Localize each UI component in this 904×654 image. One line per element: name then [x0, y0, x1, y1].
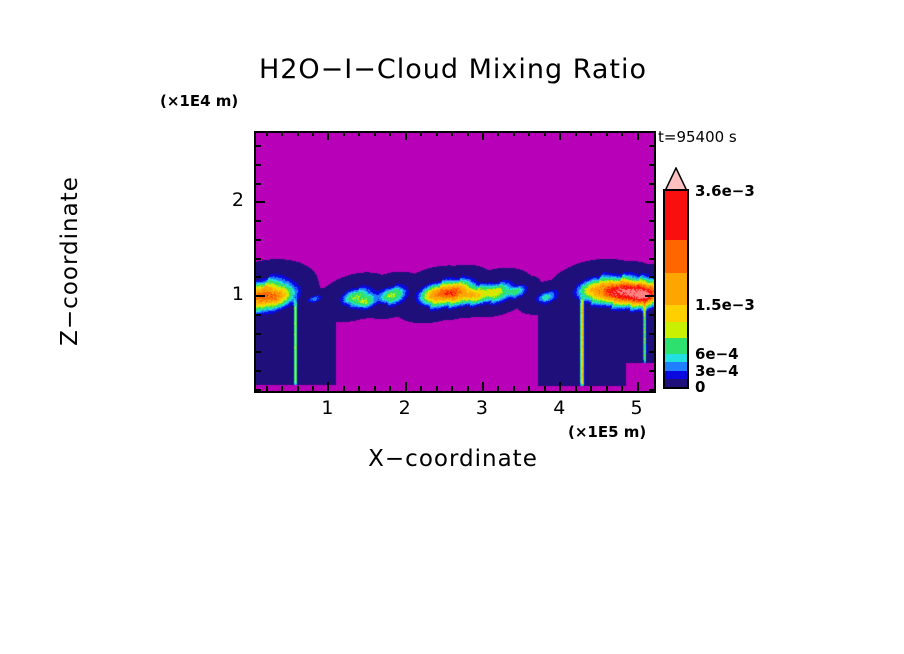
y-minor-tick [256, 276, 261, 278]
x-axis-unit-label: (×1E5 m) [568, 423, 646, 441]
colorbar-tick-label: 3e−4 [695, 362, 739, 380]
x-minor-tick-top [637, 131, 639, 140]
x-tick-label: 4 [539, 397, 579, 419]
y-tick-label: 2 [204, 189, 244, 211]
colorbar-arrow-cap [663, 167, 689, 191]
plot-area [254, 131, 656, 393]
x-minor-tick-top [420, 131, 422, 136]
colorbar-tick-label: 3.6e−3 [695, 182, 755, 200]
x-minor-tick [358, 386, 360, 391]
x-minor-tick-top [312, 131, 314, 136]
x-minor-tick [374, 386, 376, 391]
colorbar-tick-label: 6e−4 [695, 345, 739, 363]
colorbar-band [665, 191, 687, 240]
x-tick-label: 2 [385, 397, 425, 419]
x-minor-tick [343, 386, 345, 391]
colorbar-band [665, 354, 687, 362]
x-minor-tick [513, 386, 515, 391]
y-minor-tick-right [649, 389, 654, 391]
x-minor-tick [405, 382, 407, 391]
y-minor-tick [256, 201, 265, 203]
x-minor-tick [528, 386, 530, 391]
y-minor-tick-right [649, 183, 654, 185]
x-minor-tick-top [497, 131, 499, 136]
figure-canvas: H2O−I−Cloud Mixing Ratio (×1E4 m) t=9540… [0, 0, 904, 654]
x-minor-tick-top [528, 131, 530, 136]
colorbar-band [665, 362, 687, 370]
x-minor-tick-top [621, 131, 623, 136]
x-minor-tick-top [544, 131, 546, 136]
time-annotation: t=95400 s [658, 128, 737, 146]
y-minor-tick-right [649, 370, 654, 372]
x-minor-tick [621, 386, 623, 391]
y-axis-unit-label: (×1E4 m) [160, 92, 238, 110]
y-minor-tick-right [649, 145, 654, 147]
x-minor-tick [451, 386, 453, 391]
x-minor-tick-top [405, 131, 407, 140]
y-minor-tick [256, 389, 261, 391]
y-minor-tick [256, 239, 261, 241]
x-axis-title: X−coordinate [254, 446, 652, 472]
y-minor-tick [256, 258, 261, 260]
y-minor-tick-right [649, 239, 654, 241]
x-minor-tick [467, 386, 469, 391]
x-minor-tick [266, 386, 268, 391]
x-minor-tick [590, 386, 592, 391]
x-minor-tick [559, 382, 561, 391]
colorbar-tick-label: 1.5e−3 [695, 296, 755, 314]
y-minor-tick-right [645, 295, 654, 297]
colorbar-band [665, 273, 687, 306]
x-minor-tick [436, 386, 438, 391]
x-minor-tick-top [389, 131, 391, 136]
x-minor-tick-top [513, 131, 515, 136]
y-minor-tick [256, 220, 261, 222]
y-minor-tick-right [649, 276, 654, 278]
colorbar-band [665, 322, 687, 338]
y-minor-tick [256, 295, 265, 297]
y-minor-tick [256, 183, 261, 185]
x-minor-tick-top [327, 131, 329, 140]
y-minor-tick-right [649, 164, 654, 166]
x-minor-tick-top [451, 131, 453, 136]
y-minor-tick-right [649, 351, 654, 353]
x-minor-tick-top [297, 131, 299, 136]
y-axis-title: Z−coordinate [57, 131, 83, 391]
x-minor-tick-top [281, 131, 283, 136]
y-minor-tick [256, 145, 261, 147]
x-minor-tick-top [482, 131, 484, 140]
x-tick-label: 1 [307, 397, 347, 419]
x-minor-tick-top [358, 131, 360, 136]
colorbar-band [665, 240, 687, 273]
x-minor-tick [637, 382, 639, 391]
x-minor-tick-top [436, 131, 438, 136]
page-title: H2O−I−Cloud Mixing Ratio [254, 54, 652, 85]
x-minor-tick-top [559, 131, 561, 140]
x-minor-tick-top [590, 131, 592, 136]
y-tick-label: 1 [204, 283, 244, 305]
y-minor-tick [256, 164, 261, 166]
contour-field [256, 133, 654, 391]
x-minor-tick [389, 386, 391, 391]
x-minor-tick-top [374, 131, 376, 136]
x-minor-tick [281, 386, 283, 391]
x-minor-tick [312, 386, 314, 391]
colorbar-band [665, 305, 687, 321]
x-minor-tick [297, 386, 299, 391]
colorbar [663, 167, 689, 389]
x-minor-tick [575, 386, 577, 391]
colorbar-bands [663, 189, 689, 389]
y-minor-tick [256, 370, 261, 372]
x-minor-tick [497, 386, 499, 391]
y-minor-tick-right [649, 314, 654, 316]
colorbar-band [665, 338, 687, 354]
x-tick-label: 3 [462, 397, 502, 419]
y-minor-tick [256, 351, 261, 353]
colorbar-band [665, 379, 687, 387]
x-minor-tick-top [343, 131, 345, 136]
y-minor-tick-right [649, 258, 654, 260]
y-minor-tick [256, 333, 261, 335]
y-minor-tick-right [645, 201, 654, 203]
x-minor-tick [482, 382, 484, 391]
x-minor-tick-top [575, 131, 577, 136]
y-minor-tick-right [649, 333, 654, 335]
x-minor-tick-top [467, 131, 469, 136]
x-minor-tick-top [266, 131, 268, 136]
x-tick-label: 5 [617, 397, 657, 419]
x-minor-tick [606, 386, 608, 391]
y-minor-tick [256, 314, 261, 316]
x-minor-tick [327, 382, 329, 391]
x-minor-tick [420, 386, 422, 391]
colorbar-tick-label: 0 [695, 378, 705, 396]
y-minor-tick-right [649, 220, 654, 222]
colorbar-band [665, 371, 687, 379]
x-minor-tick [544, 386, 546, 391]
x-minor-tick-top [606, 131, 608, 136]
